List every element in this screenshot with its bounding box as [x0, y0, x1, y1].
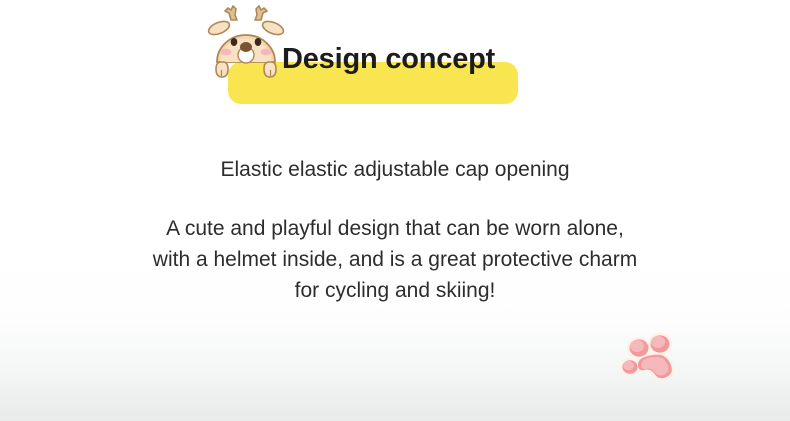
description-paragraph: A cute and playful design that can be wo…	[0, 213, 790, 306]
description-line-3: for cycling and skiing!	[0, 275, 790, 306]
page-title: Design concept	[282, 40, 612, 78]
body-copy: Elastic elastic adjustable cap opening A…	[0, 155, 790, 306]
lead-line: Elastic elastic adjustable cap opening	[0, 155, 790, 185]
paw-print-icon	[622, 331, 686, 393]
description-line-2: with a helmet inside, and is a great pro…	[0, 244, 790, 275]
header-block: Design concept	[0, 0, 790, 120]
deer-mascot-icon	[207, 4, 285, 84]
description-line-1: A cute and playful design that can be wo…	[0, 213, 790, 244]
design-concept-page: Design concept Elastic elastic adjustabl…	[0, 0, 790, 421]
